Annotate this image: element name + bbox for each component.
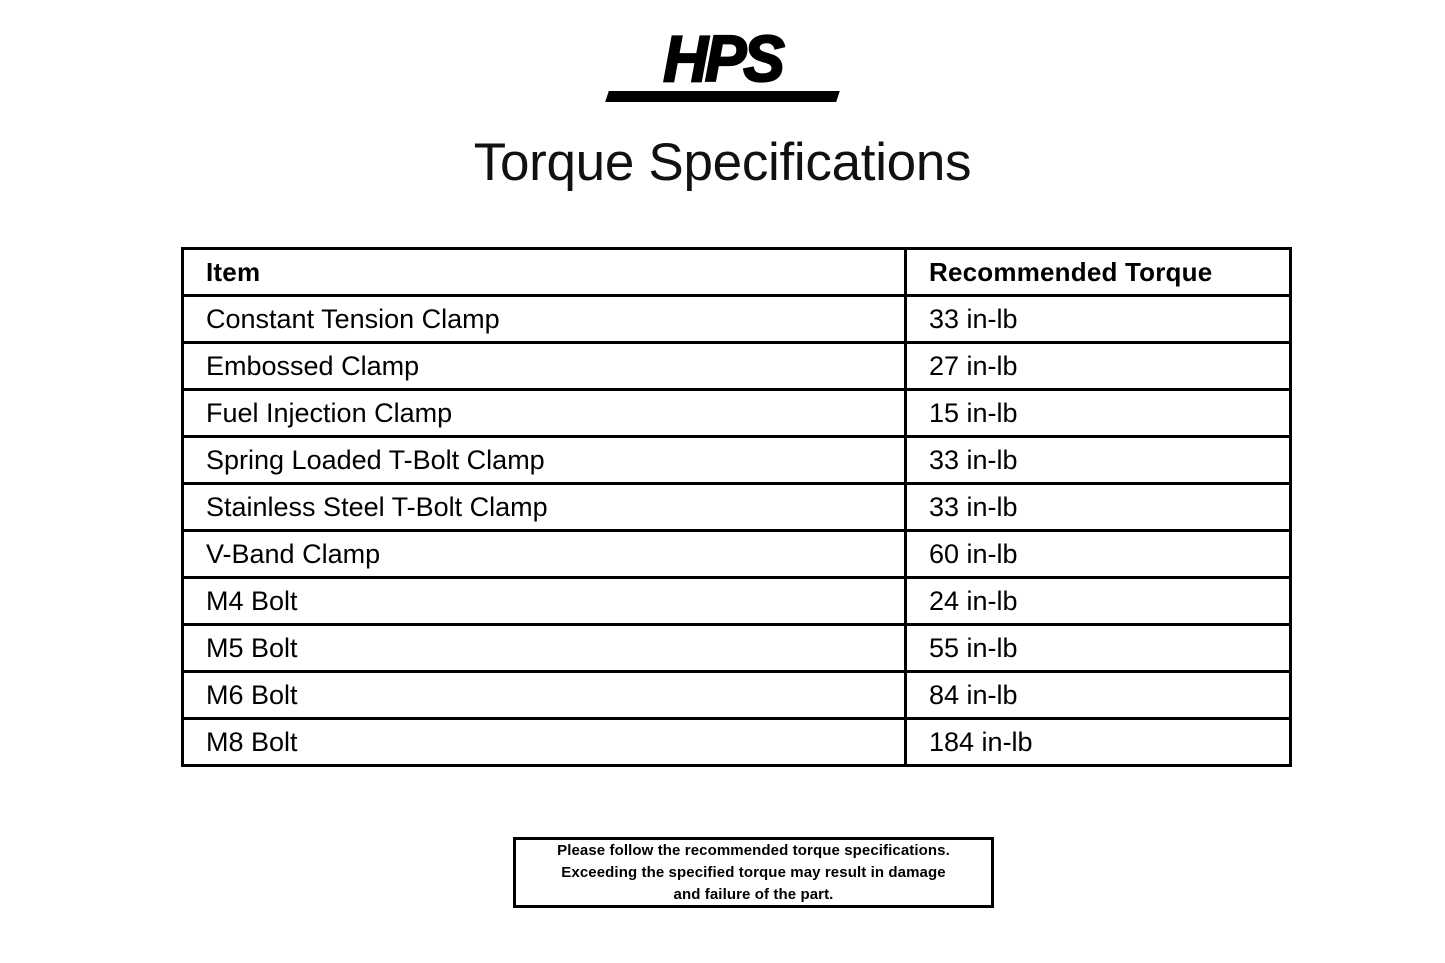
table-row: M4 Bolt 24 in-lb — [183, 578, 1291, 625]
cell-item: Constant Tension Clamp — [183, 296, 906, 343]
table-row: Constant Tension Clamp 33 in-lb — [183, 296, 1291, 343]
cell-torque: 27 in-lb — [906, 343, 1291, 390]
cell-item: M4 Bolt — [183, 578, 906, 625]
torque-specifications-table-container: Item Recommended Torque Constant Tension… — [181, 247, 1289, 767]
cell-item: M5 Bolt — [183, 625, 906, 672]
cell-torque: 184 in-lb — [906, 719, 1291, 766]
cell-item: M6 Bolt — [183, 672, 906, 719]
table-row: Embossed Clamp 27 in-lb — [183, 343, 1291, 390]
table-row: Spring Loaded T-Bolt Clamp 33 in-lb — [183, 437, 1291, 484]
cell-item: Embossed Clamp — [183, 343, 906, 390]
page-title: Torque Specifications — [0, 132, 1445, 194]
table-row: Stainless Steel T-Bolt Clamp 33 in-lb — [183, 484, 1291, 531]
footer-warning-box: Please follow the recommended torque spe… — [513, 837, 994, 908]
cell-torque: 60 in-lb — [906, 531, 1291, 578]
hps-logo-icon: HPS — [603, 30, 843, 102]
table-row: V-Band Clamp 60 in-lb — [183, 531, 1291, 578]
table-row: M8 Bolt 184 in-lb — [183, 719, 1291, 766]
table-row: M5 Bolt 55 in-lb — [183, 625, 1291, 672]
cell-torque: 24 in-lb — [906, 578, 1291, 625]
torque-specifications-table: Item Recommended Torque Constant Tension… — [181, 247, 1292, 767]
table-body: Constant Tension Clamp 33 in-lb Embossed… — [183, 296, 1291, 766]
cell-item: M8 Bolt — [183, 719, 906, 766]
cell-item: Spring Loaded T-Bolt Clamp — [183, 437, 906, 484]
hps-logo-underline-bar — [605, 91, 840, 102]
cell-torque: 33 in-lb — [906, 437, 1291, 484]
brand-logo-block: HPS — [0, 30, 1445, 110]
cell-item: Fuel Injection Clamp — [183, 390, 906, 437]
cell-item: Stainless Steel T-Bolt Clamp — [183, 484, 906, 531]
table-header: Item Recommended Torque — [183, 249, 1291, 296]
cell-torque: 55 in-lb — [906, 625, 1291, 672]
column-header-item: Item — [183, 249, 906, 296]
cell-torque: 33 in-lb — [906, 296, 1291, 343]
cell-item: V-Band Clamp — [183, 531, 906, 578]
footer-warning-text: Please follow the recommended torque spe… — [549, 840, 958, 906]
table-header-row: Item Recommended Torque — [183, 249, 1291, 296]
column-header-recommended-torque: Recommended Torque — [906, 249, 1291, 296]
table-row: M6 Bolt 84 in-lb — [183, 672, 1291, 719]
table-row: Fuel Injection Clamp 15 in-lb — [183, 390, 1291, 437]
hps-logo-text: HPS — [603, 25, 843, 96]
cell-torque: 33 in-lb — [906, 484, 1291, 531]
cell-torque: 84 in-lb — [906, 672, 1291, 719]
cell-torque: 15 in-lb — [906, 390, 1291, 437]
